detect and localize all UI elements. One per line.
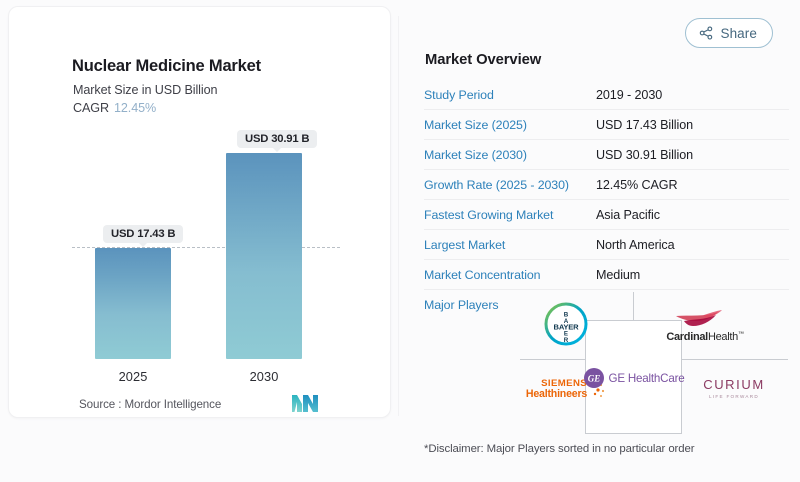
healthineers-wordmark: Healthineers xyxy=(526,389,587,400)
mordor-intelligence-logo xyxy=(292,395,318,412)
row-key: Market Size (2030) xyxy=(424,148,596,162)
row-key: Study Period xyxy=(424,88,596,102)
row-key: Fastest Growing Market xyxy=(424,208,596,222)
row-key: Largest Market xyxy=(424,238,596,252)
source-text: Source : Mordor Intelligence xyxy=(79,398,221,411)
curium-tagline: LIFE FORWARD xyxy=(709,394,759,399)
row-key: Growth Rate (2025 - 2030) xyxy=(424,178,596,192)
bar-2025 xyxy=(95,248,171,359)
major-players-logo-grid: B A E R BAYER CardinalHealth™ SIEMENS xyxy=(520,292,790,432)
bar-2030 xyxy=(226,153,302,359)
table-row: Largest Market North America xyxy=(424,230,789,260)
share-nodes-icon xyxy=(699,26,713,40)
bar-label-2030: USD 30.91 B xyxy=(237,130,317,148)
ge-healthcare-wordmark: GE HealthCare xyxy=(609,372,685,385)
row-value: USD 30.91 Billion xyxy=(596,148,693,162)
row-value: Asia Pacific xyxy=(596,208,660,222)
trademark-icon: ™ xyxy=(738,331,744,337)
cardinal-word: Cardinal xyxy=(666,331,708,343)
svg-text:R: R xyxy=(564,337,569,344)
curium-wordmark: CURIUM xyxy=(703,377,765,392)
market-overview-table: Study Period 2019 - 2030 Market Size (20… xyxy=(424,80,789,320)
row-value: North America xyxy=(596,238,675,252)
bar-label-2025: USD 17.43 B xyxy=(103,225,183,243)
svg-text:BAYER: BAYER xyxy=(554,323,580,332)
row-key: Market Concentration xyxy=(424,268,596,282)
row-value: 2019 - 2030 xyxy=(596,88,662,102)
row-value: 12.45% CAGR xyxy=(596,178,678,192)
chart-card: Nuclear Medicine Market Market Size in U… xyxy=(8,6,391,418)
disclaimer-text: *Disclaimer: Major Players sorted in no … xyxy=(424,443,694,455)
table-row: Fastest Growing Market Asia Pacific xyxy=(424,200,789,230)
cardinal-health-wordmark: CardinalHealth™ xyxy=(666,331,743,343)
table-row: Market Size (2025) USD 17.43 Billion xyxy=(424,110,789,140)
table-row: Growth Rate (2025 - 2030) 12.45% CAGR xyxy=(424,170,789,200)
market-snapshot-page: Nuclear Medicine Market Market Size in U… xyxy=(0,0,800,482)
cardinal-health-logo: CardinalHealth™ xyxy=(650,304,760,348)
market-overview-title: Market Overview xyxy=(425,52,541,68)
bayer-logo: B A E R BAYER xyxy=(542,300,590,348)
row-key: Market Size (2025) xyxy=(424,118,596,132)
x-axis-tick-2025: 2025 xyxy=(95,369,171,384)
share-button-label: Share xyxy=(720,26,757,41)
curium-logo: CURIUM LIFE FORWARD xyxy=(688,372,780,404)
panel-divider xyxy=(398,16,399,416)
ge-healthcare-logo: GE GE HealthCare xyxy=(588,360,680,396)
table-row: Market Concentration Medium xyxy=(424,260,789,290)
table-row: Study Period 2019 - 2030 xyxy=(424,80,789,110)
bar-chart-plot: USD 17.43 B USD 30.91 B 2025 2030 xyxy=(9,7,390,417)
cardinal-bird-icon xyxy=(674,309,736,331)
health-word: Health xyxy=(708,331,738,343)
svg-text:GE: GE xyxy=(587,374,600,384)
x-axis-tick-2030: 2030 xyxy=(226,369,302,384)
row-value: Medium xyxy=(596,268,640,282)
row-value: USD 17.43 Billion xyxy=(596,118,693,132)
table-row: Market Size (2030) USD 30.91 Billion xyxy=(424,140,789,170)
ge-monogram-icon: GE xyxy=(584,368,604,388)
share-button[interactable]: Share xyxy=(685,18,773,48)
